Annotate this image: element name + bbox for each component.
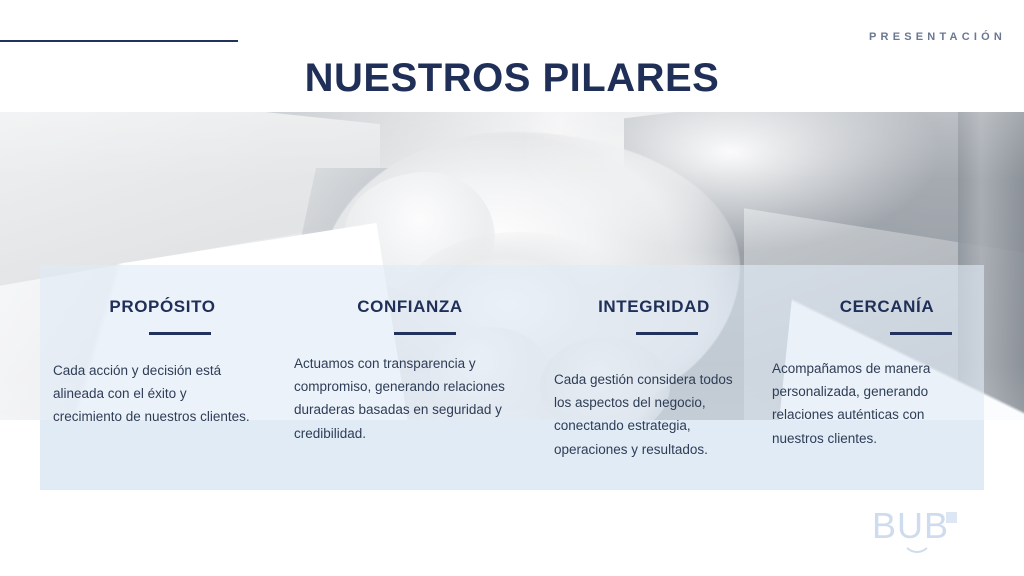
header-accent-rule: [0, 40, 238, 42]
pillar-body: Cada acción y decisión está alineada con…: [53, 359, 253, 429]
pillar-body: Cada gestión considera todos los aspecto…: [554, 368, 744, 461]
pillar-column-cercania: CERCANÍA Acompañamos de manera personali…: [772, 265, 984, 490]
pillar-underline: [890, 332, 952, 335]
pillar-body: Actuamos con transparencia y compromiso,…: [294, 352, 509, 445]
pillar-heading: PROPÓSITO: [39, 297, 286, 317]
pillars-row: PROPÓSITO Cada acción y decisión está al…: [40, 265, 984, 490]
pillar-heading: CONFIANZA: [286, 297, 534, 317]
pillar-column-confianza: CONFIANZA Actuamos con transparencia y c…: [286, 265, 534, 490]
logo-corner-mark-icon: [946, 512, 957, 523]
pillar-underline: [149, 332, 211, 335]
pillar-heading: INTEGRIDAD: [536, 297, 772, 317]
brand-logo: BUB: [872, 508, 982, 558]
logo-smile-icon: [902, 538, 932, 553]
pillar-underline: [636, 332, 698, 335]
page-title: NUESTROS PILARES: [0, 56, 1024, 101]
pillar-column-integridad: INTEGRIDAD Cada gestión considera todos …: [534, 265, 772, 490]
pillar-underline: [394, 332, 456, 335]
eyebrow-label: PRESENTACIÓN: [869, 31, 1006, 43]
pillar-column-proposito: PROPÓSITO Cada acción y decisión está al…: [40, 265, 286, 490]
pillar-heading: CERCANÍA: [790, 297, 984, 317]
pillar-body: Acompañamos de manera personalizada, gen…: [772, 357, 972, 450]
presentation-slide: PRESENTACIÓN NUESTROS PILARES PROPÓSITO …: [0, 0, 1024, 576]
